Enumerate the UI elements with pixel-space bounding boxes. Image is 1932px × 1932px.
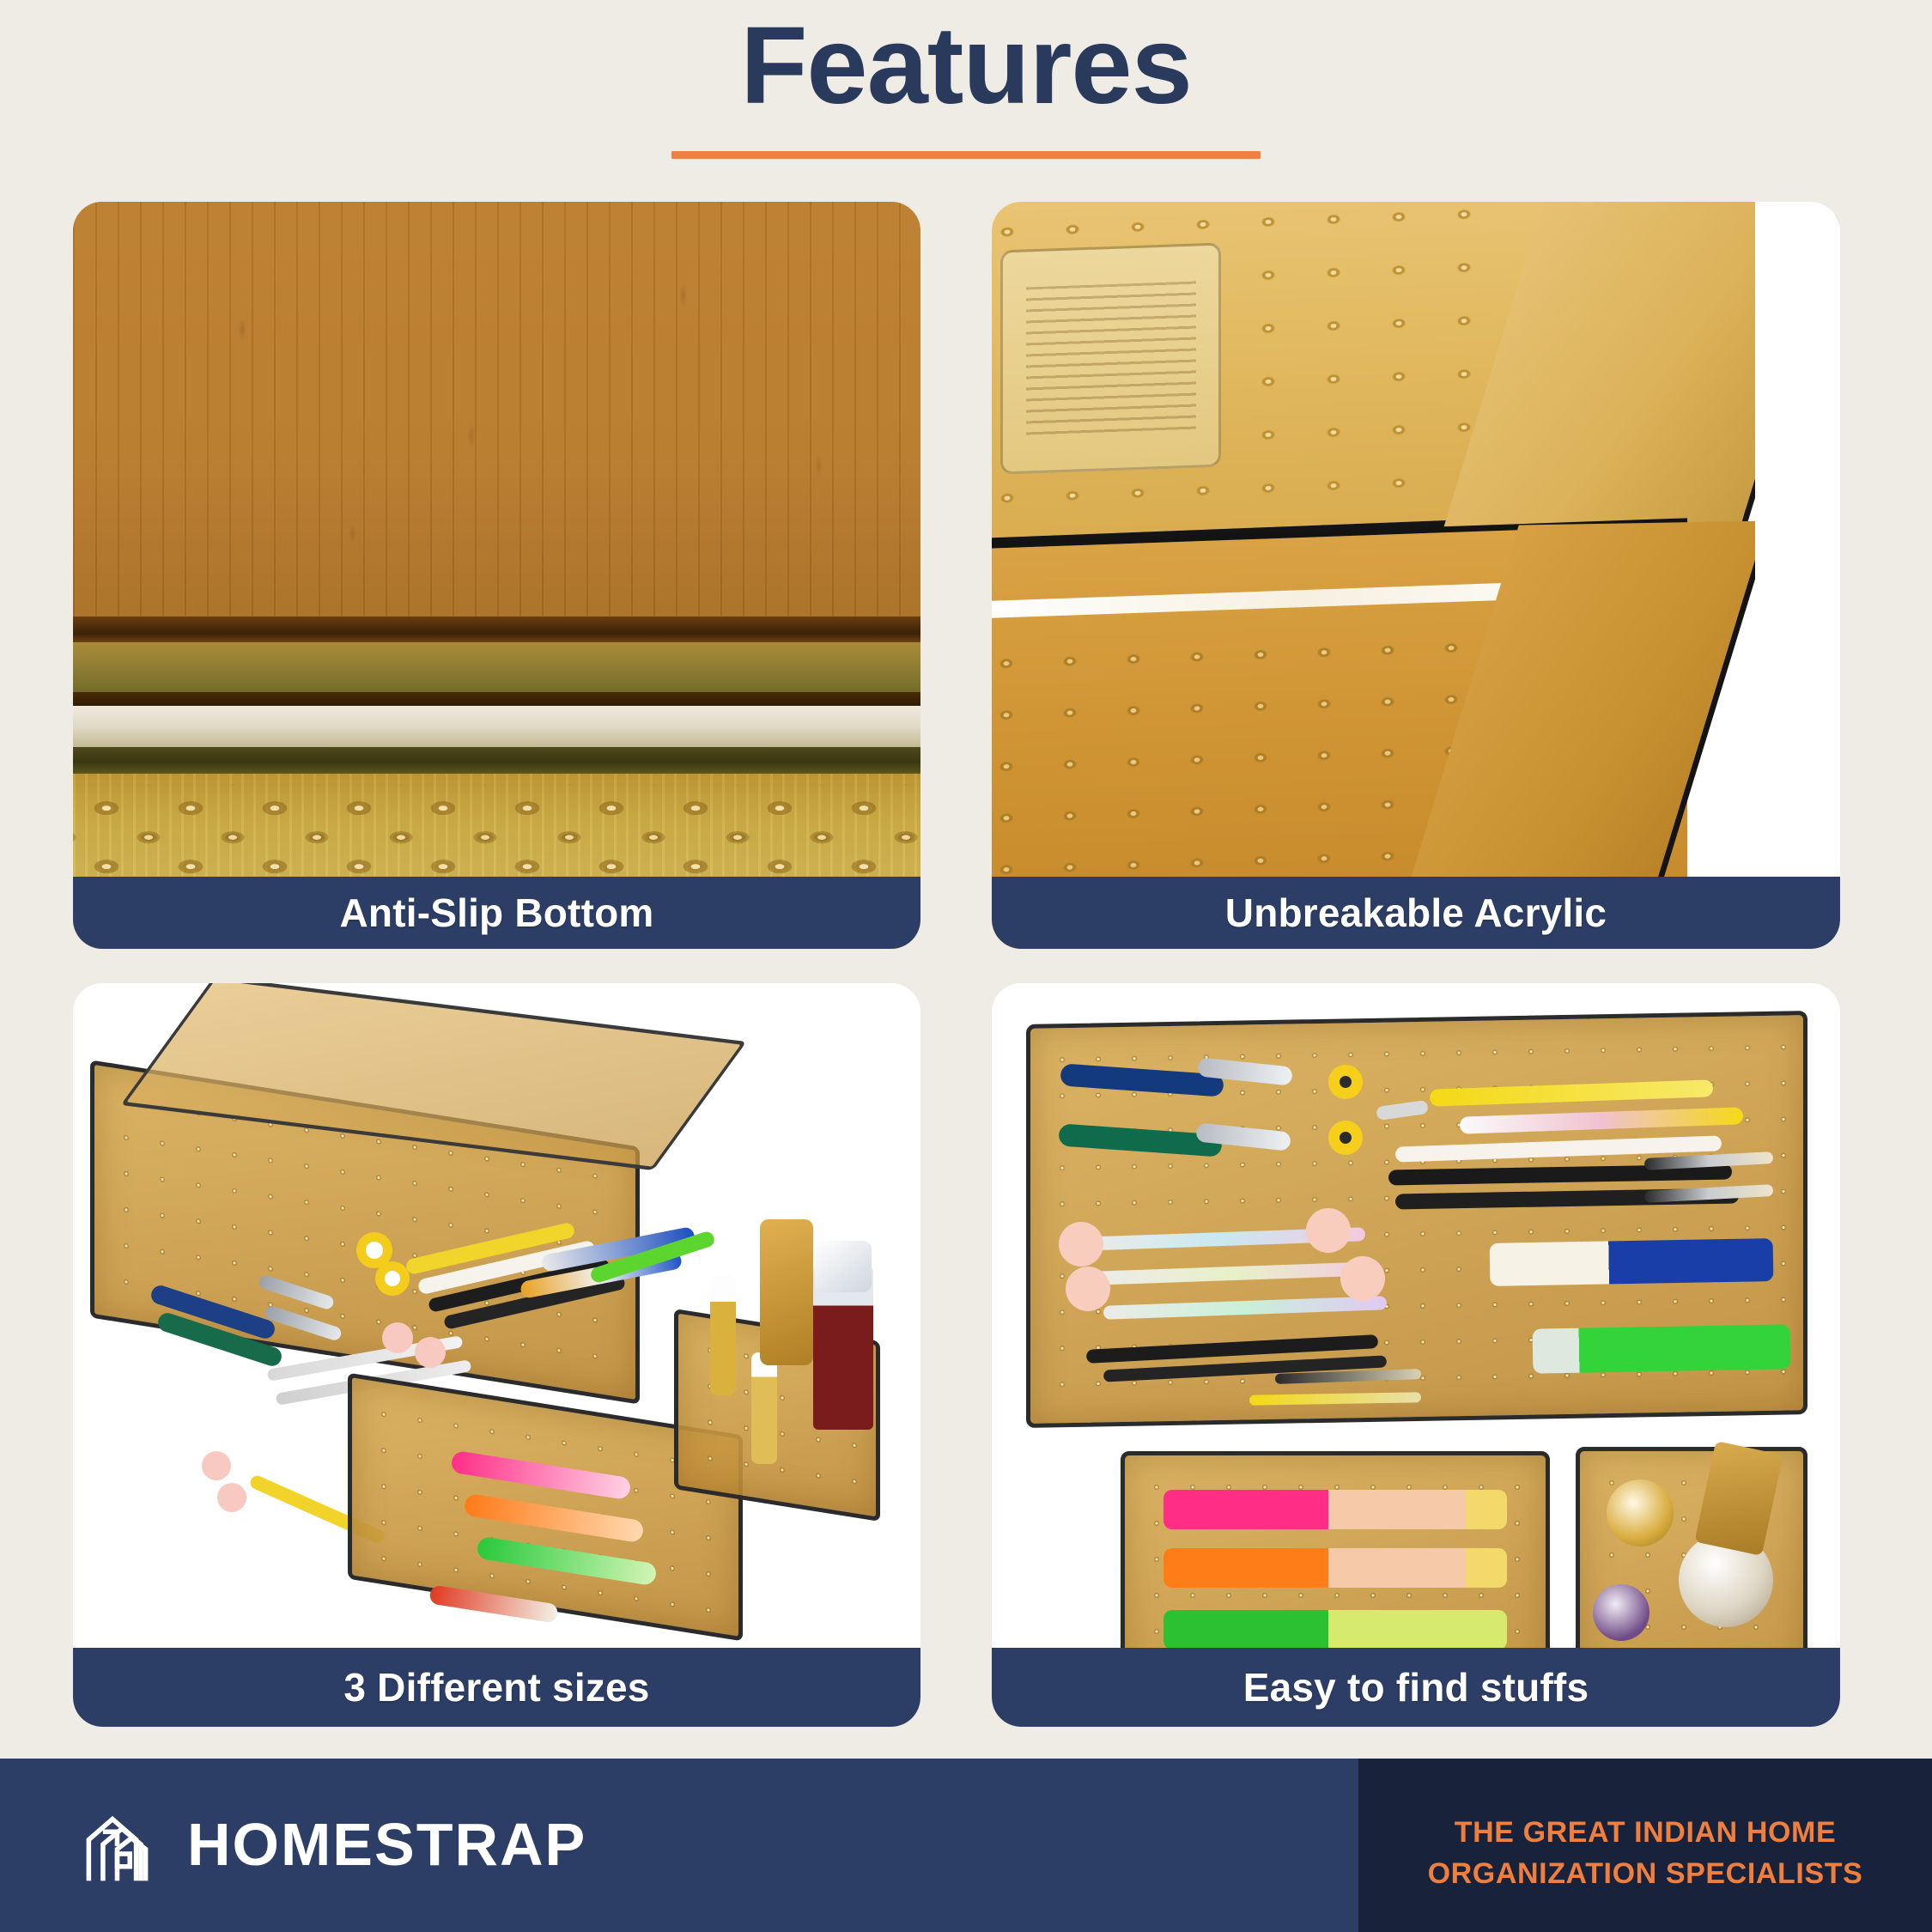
- feature-image-unbreakable-acrylic: [992, 202, 1840, 949]
- feature-caption-bar: Anti-Slip Bottom: [73, 877, 920, 949]
- tagline-line-2: ORGANIZATION SPECIALISTS: [1358, 1853, 1932, 1894]
- feature-card-anti-slip-bottom[interactable]: Anti-Slip Bottom: [73, 202, 920, 949]
- feature-caption-bar: Unbreakable Acrylic: [992, 877, 1840, 949]
- tagline-line-1: THE GREAT INDIAN HOME: [1358, 1812, 1932, 1853]
- feature-grid: Anti-Slip Bottom Unbreakable Acrylic: [0, 0, 1932, 1932]
- brand-logo[interactable]: HOMESTRAP: [82, 1805, 586, 1884]
- feature-caption-bar: 3 Different sizes: [73, 1648, 920, 1727]
- feature-caption-label: Unbreakable Acrylic: [1225, 890, 1607, 936]
- feature-card-three-different-sizes[interactable]: 3 Different sizes: [73, 983, 920, 1727]
- feature-image-anti-slip-bottom: [73, 202, 920, 949]
- feature-caption-bar: Easy to find stuffs: [992, 1648, 1840, 1727]
- feature-card-unbreakable-acrylic[interactable]: Unbreakable Acrylic: [992, 202, 1840, 949]
- home-outline-logo-icon: [82, 1805, 161, 1884]
- feature-card-easy-to-find-stuffs[interactable]: Easy to find stuffs: [992, 983, 1840, 1727]
- feature-image-easy-to-find-stuffs: [992, 983, 1840, 1727]
- feature-caption-label: Easy to find stuffs: [1243, 1664, 1589, 1710]
- feature-caption-label: Anti-Slip Bottom: [339, 890, 653, 936]
- brand-name: HOMESTRAP: [187, 1810, 586, 1879]
- feature-image-three-different-sizes: [73, 983, 920, 1727]
- page-footer: HOMESTRAP THE GREAT INDIAN HOME ORGANIZA…: [0, 1759, 1932, 1932]
- brand-tagline: THE GREAT INDIAN HOME ORGANIZATION SPECI…: [1358, 1812, 1932, 1895]
- feature-caption-label: 3 Different sizes: [343, 1664, 649, 1710]
